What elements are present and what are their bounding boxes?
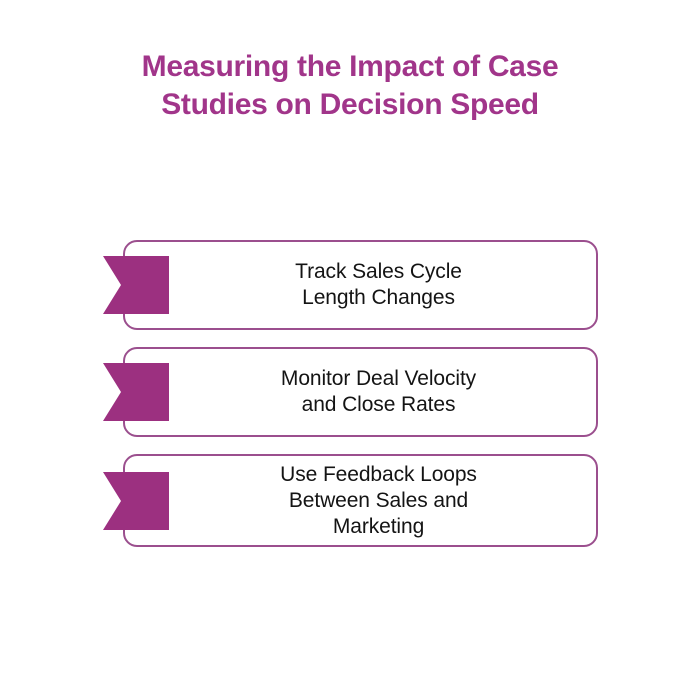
card-list: Track Sales Cycle Length Changes Monitor… <box>123 240 598 547</box>
card-track-sales-cycle[interactable]: Track Sales Cycle Length Changes <box>123 240 598 330</box>
page-title-line-1: Measuring the Impact of Case <box>60 48 640 86</box>
page-title: Measuring the Impact of Case Studies on … <box>60 48 640 124</box>
card-text: Use Feedback Loops Between Sales and Mar… <box>125 462 596 540</box>
infographic-canvas: Measuring the Impact of Case Studies on … <box>0 0 700 700</box>
card-monitor-deal-velocity[interactable]: Monitor Deal Velocity and Close Rates <box>123 347 598 437</box>
card-text-line: Track Sales Cycle <box>183 259 574 285</box>
card-use-feedback-loops[interactable]: Use Feedback Loops Between Sales and Mar… <box>123 454 598 547</box>
card-text-line: Between Sales and <box>183 488 574 514</box>
page-title-line-2: Studies on Decision Speed <box>60 86 640 124</box>
card-text: Monitor Deal Velocity and Close Rates <box>125 366 596 418</box>
card-text-line: Marketing <box>183 514 574 540</box>
card-text-line: Monitor Deal Velocity <box>183 366 574 392</box>
card-text-line: Use Feedback Loops <box>183 462 574 488</box>
card-text-line: Length Changes <box>183 285 574 311</box>
card-text: Track Sales Cycle Length Changes <box>125 259 596 311</box>
card-text-line: and Close Rates <box>183 392 574 418</box>
